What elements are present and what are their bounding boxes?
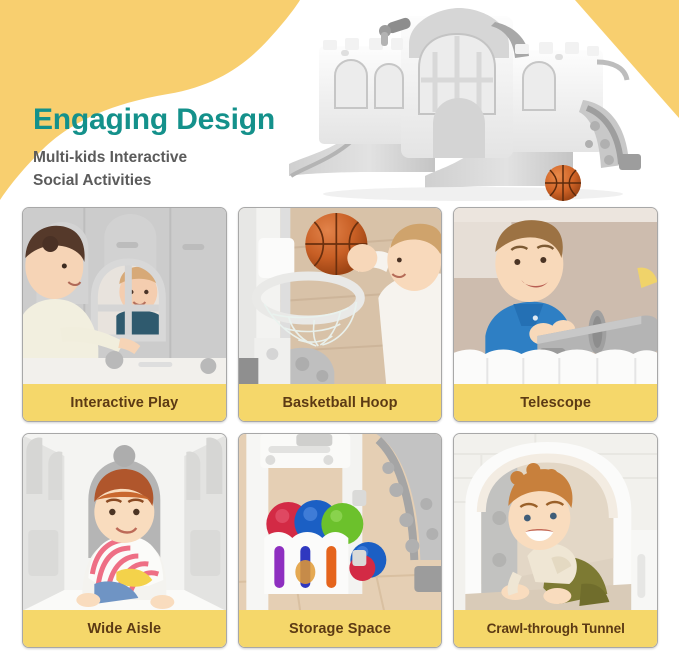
caption-label: Interactive Play — [70, 395, 178, 411]
feature-tile-storage-space[interactable]: Storage Space — [238, 433, 443, 648]
header-text-block: Engaging Design Multi-kids Interactive S… — [33, 104, 333, 193]
caption-label: Crawl-through Tunnel — [487, 621, 625, 636]
caption-telescope: Telescope — [454, 384, 657, 421]
caption-interactive-play: Interactive Play — [23, 384, 226, 421]
interactive-play-photo — [23, 208, 226, 386]
caption-basketball-hoop: Basketball Hoop — [239, 384, 442, 421]
header: Engaging Design Multi-kids Interactive S… — [0, 0, 679, 205]
white-fence — [454, 350, 657, 387]
page-title: Engaging Design — [33, 104, 333, 136]
feature-tile-wide-aisle[interactable]: Wide Aisle — [22, 433, 227, 648]
basketball-hoop-photo — [239, 208, 442, 386]
telescope-photo — [454, 208, 657, 386]
wide-aisle-photo — [23, 434, 226, 612]
feature-tile-basketball-hoop[interactable]: Basketball Hoop — [238, 207, 443, 422]
hero-product-photo — [283, 4, 675, 202]
caption-storage-space: Storage Space — [239, 610, 442, 647]
center-archway — [433, 98, 485, 158]
storage-fence — [264, 532, 348, 594]
feature-grid: Interactive Play — [22, 207, 658, 648]
storage-space-photo — [239, 434, 442, 612]
caption-crawl-through-tunnel: Crawl-through Tunnel — [454, 610, 657, 647]
caption-label: Wide Aisle — [88, 621, 162, 637]
caption-label: Basketball Hoop — [282, 395, 397, 411]
crawl-through-tunnel-photo — [454, 434, 657, 612]
feature-tile-crawl-through-tunnel[interactable]: Crawl-through Tunnel — [453, 433, 658, 648]
caption-label: Telescope — [520, 395, 591, 411]
subtitle-line-1: Multi-kids Interactive — [33, 147, 333, 170]
feature-tile-interactive-play[interactable]: Interactive Play — [22, 207, 227, 422]
subtitle-line-2: Social Activities — [33, 170, 333, 193]
feature-tile-telescope[interactable]: Telescope — [453, 207, 658, 422]
caption-wide-aisle: Wide Aisle — [23, 610, 226, 647]
basketball — [545, 165, 581, 201]
caption-label: Storage Space — [289, 621, 391, 637]
